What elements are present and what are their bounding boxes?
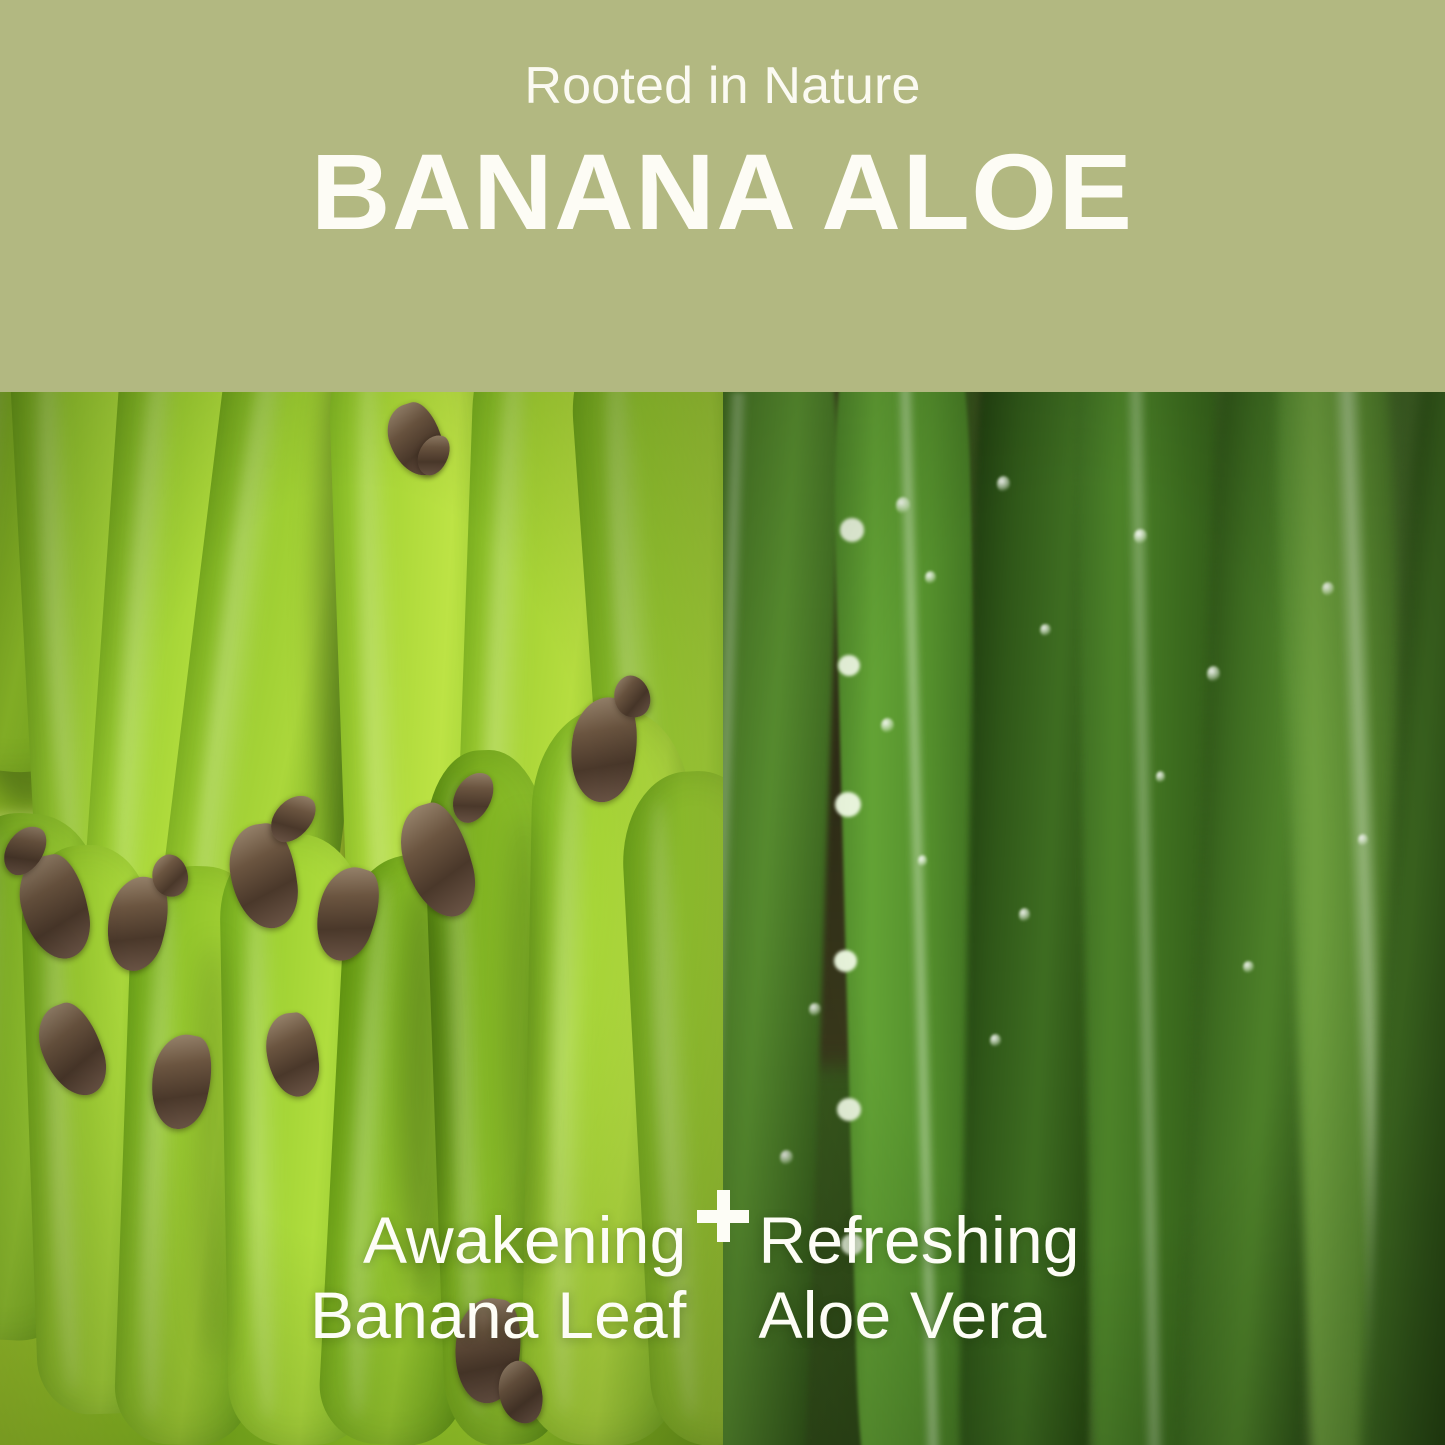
banana-caption: Awakening Banana Leaf: [310, 1203, 687, 1353]
eyebrow-text: Rooted in Nature: [524, 60, 920, 112]
banana-panel: Awakening Banana Leaf: [0, 392, 723, 1445]
product-ingredient-banner: Rooted in Nature BANANA ALOE: [0, 0, 1445, 1445]
aloe-panel: Refreshing Aloe Vera: [723, 392, 1445, 1445]
plus-icon-vertical-bar: [717, 1190, 730, 1242]
aloe-caption: Refreshing Aloe Vera: [759, 1203, 1080, 1353]
plus-icon: [697, 1190, 749, 1242]
ingredient-panels: Awakening Banana Leaf: [0, 392, 1445, 1445]
page-title: BANANA ALOE: [311, 138, 1134, 246]
header-band: Rooted in Nature BANANA ALOE: [0, 0, 1445, 392]
